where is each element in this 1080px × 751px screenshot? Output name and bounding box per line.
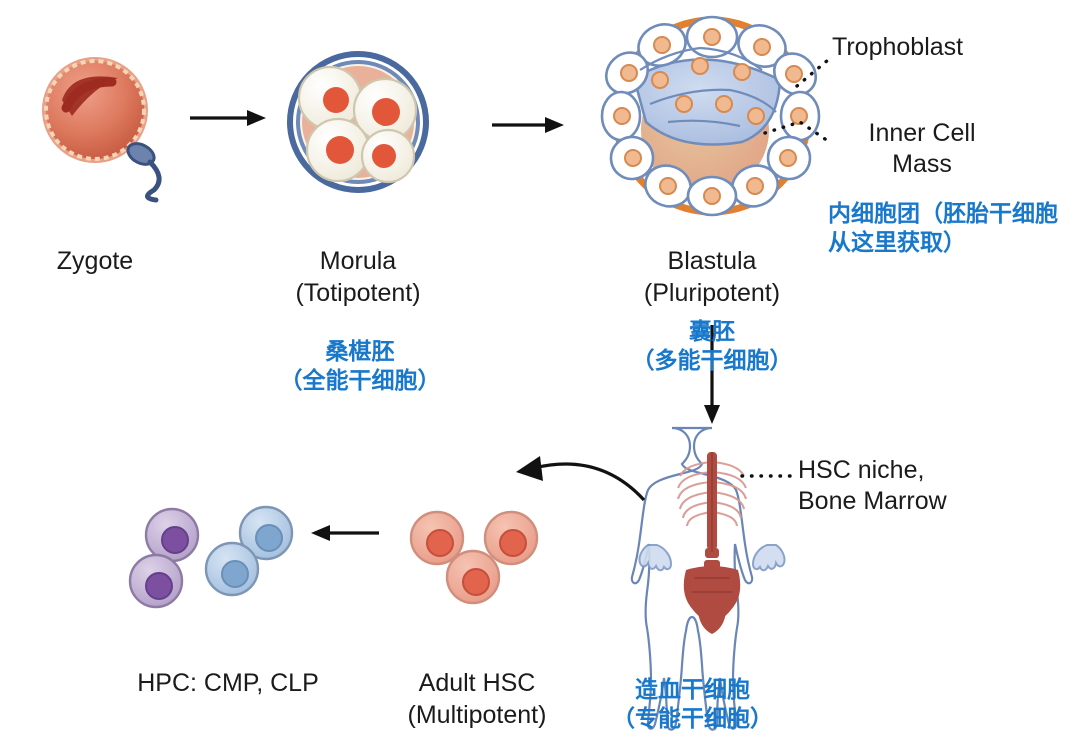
zygote-figure [0,0,1080,751]
adult-hsc-cells [411,512,537,603]
arrow-hsc-to-hpc [311,525,379,541]
morula-figure [290,54,426,190]
arrow-zygote-to-morula [190,110,266,126]
label-trophoblast: Trophoblast [832,32,1062,63]
annotation-morula-cn: 桑椹胚 （全能干细胞） [275,338,445,396]
arrow-body-to-hsc [516,456,644,500]
annotation-icm-cn: 内细胞团（胚胎干细胞 从这里获取） [828,200,1080,258]
label-morula: Morula [288,246,428,277]
label-blastula-potency: (Pluripotent) [632,278,792,309]
diagram-canvas: Zygote Morula (Totipotent) 桑椹胚 （全能干细胞） B… [0,0,1080,751]
label-hpc: HPC: CMP, CLP [103,668,353,699]
label-inner-cell-mass: Inner Cell Mass [832,118,1012,179]
label-zygote: Zygote [25,246,165,277]
label-morula-potency: (Totipotent) [278,278,438,309]
sperm-icon [124,139,159,200]
annotation-hsc-cn: 造血干细胞 （专能干细胞） [600,676,785,734]
label-hsc-niche: HSC niche, Bone Marrow [798,455,1028,516]
label-blastula: Blastula [642,246,782,277]
label-adult-hsc: Adult HSC [403,668,551,699]
hpc-cells [130,507,292,607]
arrow-morula-to-blastula [492,117,564,133]
annotation-blastula-cn: 囊胚 （多能干细胞） [627,318,797,376]
label-adult-hsc-potency: (Multipotent) [393,700,561,731]
blastula-figure [598,17,824,215]
